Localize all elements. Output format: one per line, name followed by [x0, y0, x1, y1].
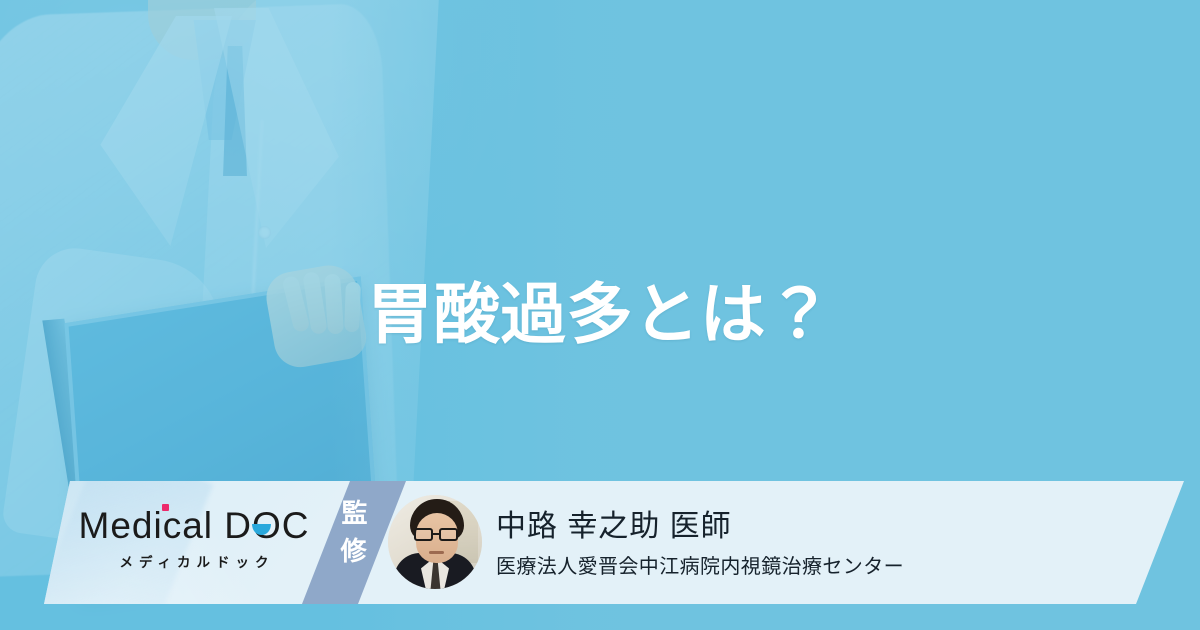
avatar — [388, 495, 482, 589]
page-title: 胃酸過多とは？ — [0, 280, 1200, 350]
glasses-icon — [413, 528, 461, 541]
supervisor-bar: Medical DOC メディカルドック 監修 — [44, 481, 1184, 604]
og-image-canvas: 胃酸過多とは？ Medical DOC メディカルドック 監修 — [0, 0, 1200, 630]
brand-wordmark-container: Medical DOC — [79, 507, 310, 544]
glasses-lens-left — [414, 528, 433, 541]
avatar-mouth — [429, 551, 444, 554]
supervisor-affiliation: 医療法人愛晋会中江病院内視鏡治療センター — [496, 550, 904, 579]
supervisor-name: 中路 幸之助 医師 — [496, 501, 732, 545]
brand-logo[interactable]: Medical DOC メディカルドック — [74, 507, 314, 571]
glasses-lens-right — [439, 528, 458, 541]
pink-dot-icon — [162, 504, 169, 511]
brand-wordmark: Medical DOC — [79, 505, 310, 546]
brand-subtitle: メディカルドック — [74, 551, 314, 571]
